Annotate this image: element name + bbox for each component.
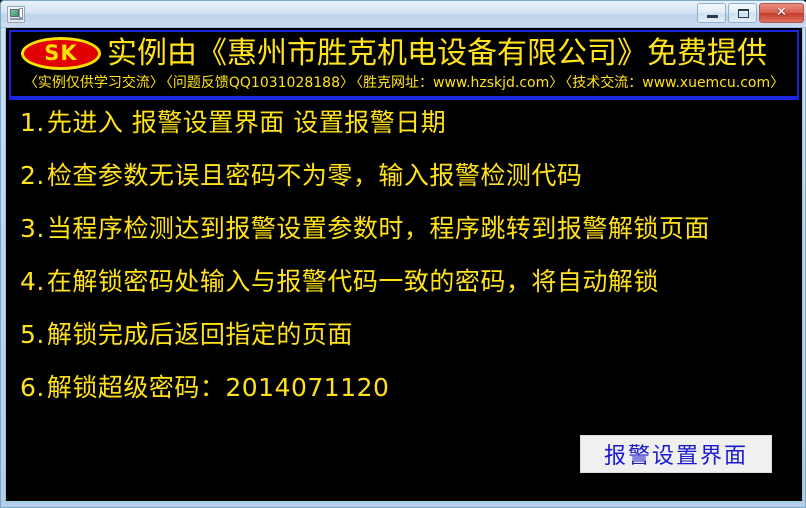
list-item-index: 4.	[20, 267, 45, 296]
banner-subtitle-row: 〈实例仅供学习交流〉〈问题反馈QQ1031028188〉〈胜克网址：www.hz…	[11, 73, 797, 93]
list-item: 5.解锁完成后返回指定的页面	[20, 320, 800, 350]
close-icon: ✕	[760, 4, 803, 22]
alarm-settings-page-button-label: 报警设置界面	[604, 438, 748, 470]
sk-logo-text: SK	[44, 43, 77, 64]
icon-page-shape	[19, 8, 23, 18]
banner-subtitle-segment-2: 〈问题反馈QQ1031028188〉	[166, 75, 354, 91]
sk-logo: SK	[21, 37, 101, 70]
banner-divider	[9, 97, 799, 100]
list-item-index: 2.	[20, 161, 45, 190]
maximize-icon	[738, 9, 749, 18]
title-bar: ✕	[1, 1, 806, 28]
list-item-text: 当程序检测达到报警设置参数时，程序跳转到报警解锁页面	[47, 214, 710, 243]
list-item: 1.先进入 报警设置界面 设置报警日期	[20, 108, 800, 138]
icon-base-shape	[10, 18, 23, 20]
banner-subtitle-segment-3: 〈胜克网址：www.hzskjd.com〉	[356, 75, 563, 91]
list-item-text: 检查参数无误且密码不为零，输入报警检测代码	[47, 161, 583, 190]
list-item-text: 先进入 报警设置界面 设置报警日期	[47, 108, 446, 137]
list-item-text: 在解锁密码处输入与报警代码一致的密码，将自动解锁	[47, 267, 659, 296]
list-item-index: 5.	[20, 320, 45, 349]
icon-screen-shape	[10, 9, 19, 17]
maximize-button[interactable]	[728, 3, 757, 23]
instruction-list: 1.先进入 报警设置界面 设置报警日期 2.检查参数无误且密码不为零，输入报警检…	[20, 108, 800, 426]
banner-title-text: 实例由《惠州市胜克机电设备有限公司》免费提供	[107, 35, 767, 73]
list-item: 4.在解锁密码处输入与报警代码一致的密码，将自动解锁	[20, 267, 800, 297]
list-item: 2.检查参数无误且密码不为零，输入报警检测代码	[20, 161, 800, 191]
sponsor-banner: SK 实例由《惠州市胜克机电设备有限公司》免费提供 〈实例仅供学习交流〉〈问题反…	[9, 30, 799, 98]
list-item: 3.当程序检测达到报警设置参数时，程序跳转到报警解锁页面	[20, 214, 800, 244]
monitor-app-icon[interactable]	[7, 6, 25, 23]
list-item-index: 6.	[20, 373, 45, 402]
list-item-index: 3.	[20, 214, 45, 243]
list-item-index: 1.	[20, 108, 45, 137]
alarm-settings-page-button[interactable]: 报警设置界面	[580, 435, 772, 473]
close-button[interactable]: ✕	[759, 3, 804, 23]
minimize-button[interactable]	[697, 3, 726, 23]
window-controls: ✕	[697, 3, 804, 23]
banner-title-row: SK 实例由《惠州市胜克机电设备有限公司》免费提供	[11, 33, 797, 73]
banner-subtitle-segment-4: 〈技术交流：www.xuemcu.com〉	[565, 75, 784, 91]
minimize-icon	[707, 15, 718, 18]
screen-content-area: SK 实例由《惠州市胜克机电设备有限公司》免费提供 〈实例仅供学习交流〉〈问题反…	[5, 28, 803, 503]
banner-subtitle-segment-1: 〈实例仅供学习交流〉	[24, 75, 164, 91]
application-window: ✕ SK 实例由《惠州市胜克机电设备有限公司》免费提供 〈实例仅供学习交流〉〈问…	[0, 0, 806, 508]
list-item-text: 解锁超级密码：2014071120	[47, 373, 390, 402]
list-item-text: 解锁完成后返回指定的页面	[47, 320, 353, 349]
list-item: 6.解锁超级密码：2014071120	[20, 373, 800, 403]
